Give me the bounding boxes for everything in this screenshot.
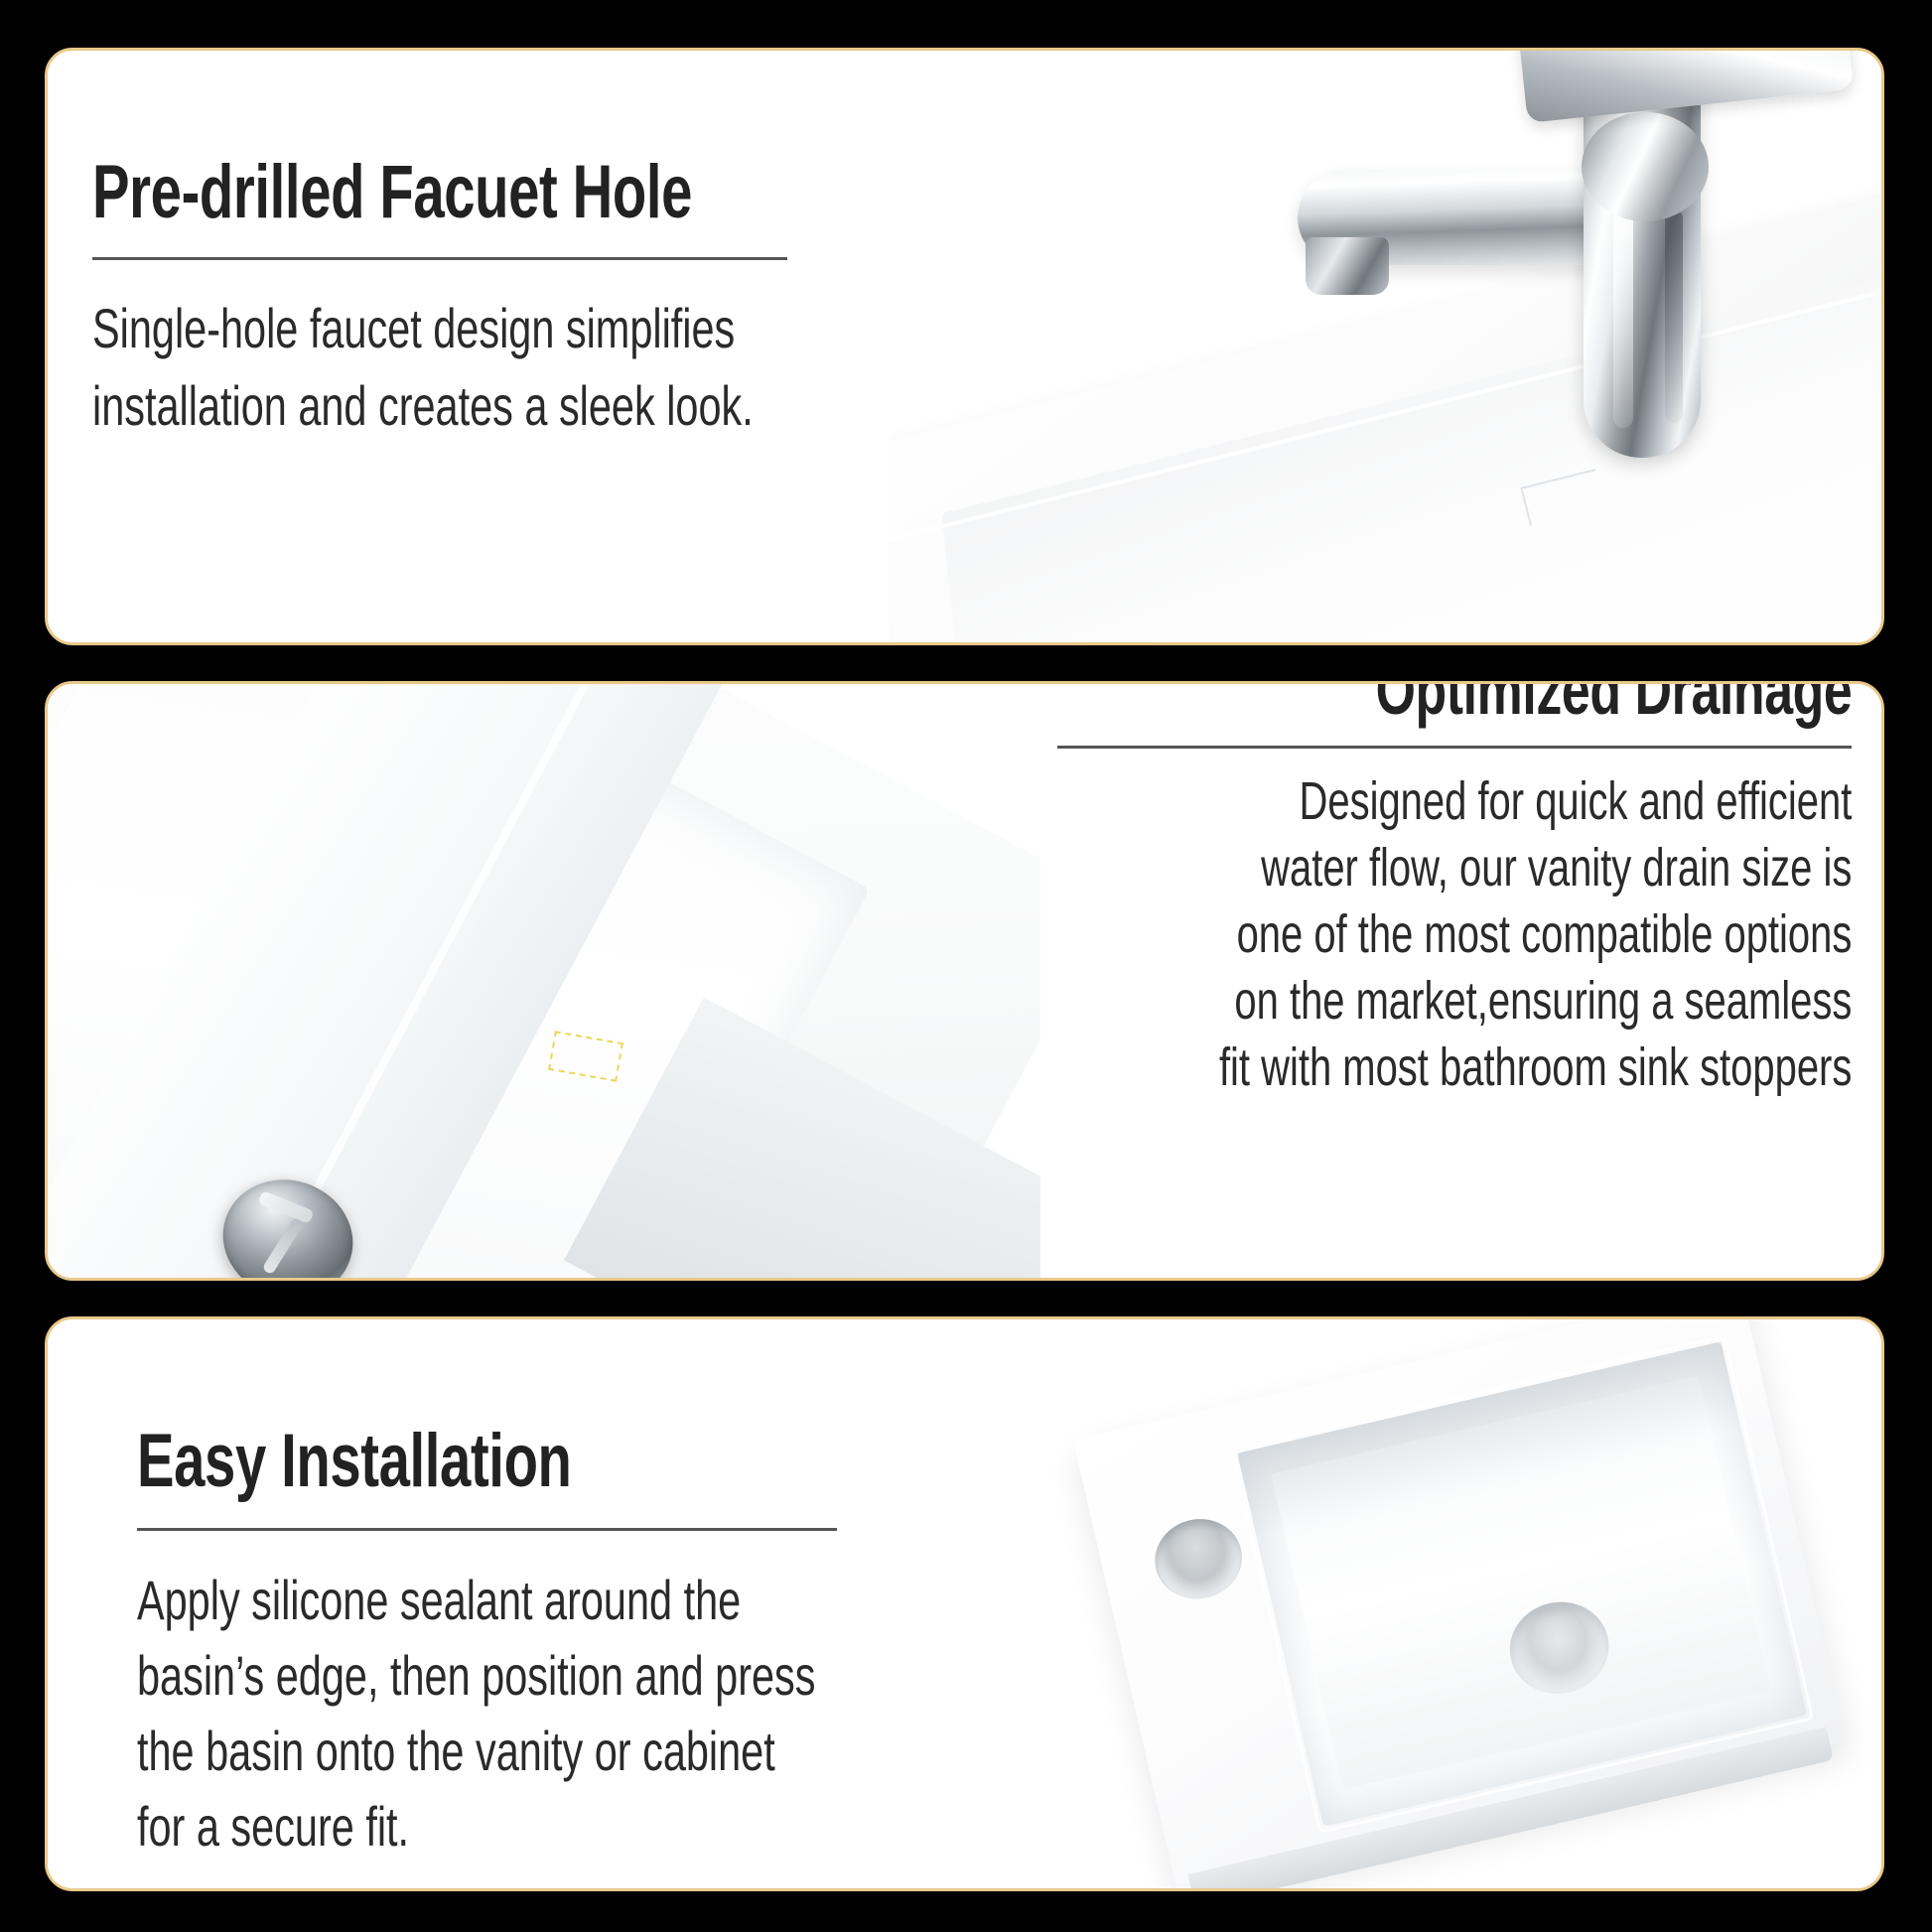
feature-panel-easy-installation: Easy Installation Apply silicone sealant… <box>45 1316 1884 1891</box>
panel-1-body-line-1: Single-hole faucet design simplifies <box>92 290 754 367</box>
panel-3-heading: Easy Installation <box>137 1419 815 1504</box>
panel-3-body-line-3: the basin onto the vanity or cabinet <box>137 1714 815 1789</box>
panel-2-body-line-5: fit with most bathroom sink stoppers <box>1219 1035 1852 1101</box>
panel-3-body-line-4: for a secure fit. <box>137 1789 815 1864</box>
panel-1-text-block: Pre-drilled Facuet Hole Single-hole fauc… <box>92 150 986 445</box>
panel-3-body-line-1: Apply silicone sealant around the <box>137 1563 815 1638</box>
faucet-highlight <box>1613 200 1633 428</box>
panel-2-text-block: Optimized Drainage Designed for quick an… <box>997 681 1852 1101</box>
panel-2-body: Designed for quick and efficient water f… <box>997 768 1852 1101</box>
feature-panel-pre-drilled-faucet-hole: Pre-drilled Facuet Hole Single-hole fauc… <box>45 48 1884 645</box>
panel-2-body-line-4: on the market,ensuring a seamless <box>1219 968 1852 1035</box>
panel-2-heading: Optimized Drainage <box>1375 681 1852 730</box>
sink-basin-with-chrome-drain-photo <box>48 684 1040 1281</box>
panel-2-body-line-1: Designed for quick and efficient <box>1219 768 1852 835</box>
infographic-page: Pre-drilled Facuet Hole Single-hole fauc… <box>0 0 1932 1932</box>
panel-1-divider <box>92 257 787 260</box>
panel-3-text-block: Easy Installation Apply silicone sealant… <box>137 1419 1054 1864</box>
panel-1-body: Single-hole faucet design simplifies ins… <box>92 290 986 445</box>
panel-1-body-line-2: installation and creates a sleek look. <box>92 367 754 445</box>
panel-2-body-line-3: one of the most compatible options <box>1219 901 1852 968</box>
feature-panel-optimized-drainage: Optimized Drainage Designed for quick an… <box>45 681 1884 1281</box>
panel-3-divider <box>137 1528 837 1531</box>
chrome-faucet-on-white-sink-photo <box>889 51 1881 645</box>
panel-3-body: Apply silicone sealant around the basin’… <box>137 1563 1054 1864</box>
panel-2-divider <box>1057 746 1852 749</box>
faucet-collar-shape <box>1582 112 1709 221</box>
panel-1-heading: Pre-drilled Facuet Hole <box>92 150 754 235</box>
faucet-shadow <box>1665 209 1683 423</box>
basin-assembly <box>1073 1319 1846 1891</box>
panel-2-body-line-2: water flow, our vanity drain size is <box>1219 835 1852 901</box>
faucet-aerator-shape <box>1306 237 1389 295</box>
panel-3-body-line-2: basin’s edge, then position and press <box>137 1638 815 1714</box>
